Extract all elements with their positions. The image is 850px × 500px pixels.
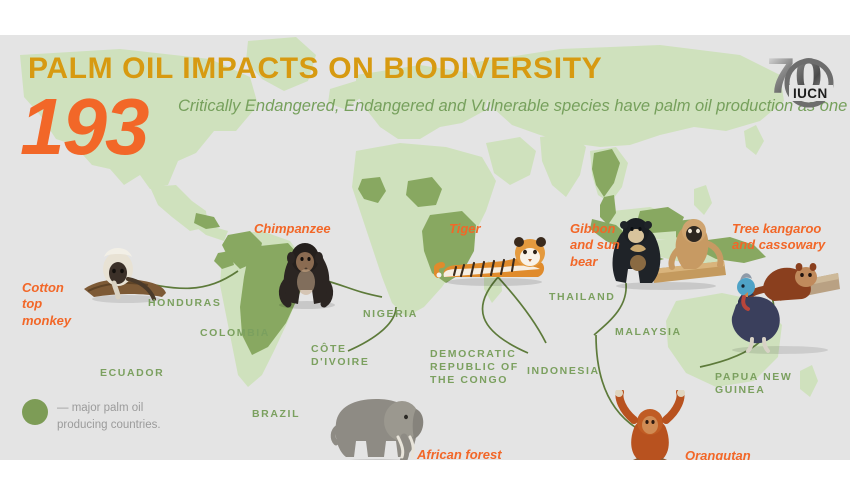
country-label-indonesia: INDONESIA	[527, 365, 600, 378]
infographic-poster: PALM OIL IMPACTS ON BIODIVERSITY 193 Cri…	[0, 0, 850, 500]
country-label-honduras: HONDURAS	[148, 297, 221, 310]
country-label-nigeria: NIGERIA	[363, 308, 418, 321]
species-count: 193	[20, 87, 147, 167]
photo-chimpanzee	[272, 238, 342, 310]
photo-cotton-top-monkey	[78, 243, 170, 305]
legend: — major palm oil producing countries.	[22, 398, 161, 433]
legend-swatch-icon	[22, 399, 48, 425]
content-panel: PALM OIL IMPACTS ON BIODIVERSITY 193 Cri…	[0, 35, 850, 460]
animal-label-tiger: Tiger	[449, 221, 481, 237]
animal-label-tree-kangaroo-and-cassowary: Tree kangaroo and cassowary	[732, 221, 825, 254]
animal-label-chimpanzee: Chimpanzee	[254, 221, 331, 237]
subtitle: Critically Endangered, Endangered and Vu…	[178, 95, 850, 118]
iucn-70th-anniversary-logo: 70 IUCN	[753, 43, 839, 115]
country-label-cote-divoire: CÔTE D'IVOIRE	[311, 343, 369, 369]
animal-label-orangutan: Orangutan	[685, 448, 751, 460]
photo-orangutan	[608, 390, 692, 460]
photo-gibbon-and-sun-bear	[608, 213, 726, 291]
animal-label-cotton-top-monkey: Cotton top monkey	[22, 280, 71, 329]
animal-label-african-forest-elephant: African forest elephant	[417, 447, 502, 460]
country-label-malaysia: MALAYSIA	[615, 326, 682, 339]
country-label-colombia: COLOMBIA	[200, 327, 270, 340]
country-label-papua-new-guinea: PAPUA NEW GUINEA	[715, 371, 792, 397]
photo-tree-kangaroo-and-cassowary	[718, 251, 840, 355]
country-label-drc: DEMOCRATIC REPUBLIC OF THE CONGO	[430, 348, 519, 387]
country-label-ecuador: ECUADOR	[100, 367, 164, 380]
country-label-brazil: BRAZIL	[252, 408, 300, 421]
legend-label: — major palm oil producing countries.	[57, 398, 161, 433]
photo-tiger	[434, 229, 548, 287]
photo-african-forest-elephant	[328, 387, 424, 460]
animal-label-gibbon-and-sun-bear: Gibbon and sun bear	[570, 221, 620, 270]
page-title: PALM OIL IMPACTS ON BIODIVERSITY	[28, 52, 602, 86]
logo-org-text: IUCN	[793, 86, 828, 101]
country-label-thailand: THAILAND	[549, 291, 615, 304]
